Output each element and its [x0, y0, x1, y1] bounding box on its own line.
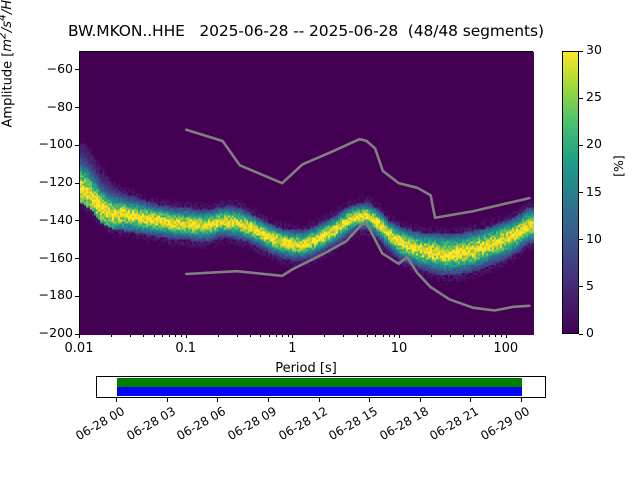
x-tick-minor	[394, 334, 395, 337]
x-tick-minor	[343, 334, 344, 337]
y-tick-label: −160	[0, 250, 73, 265]
y-tick-mark	[75, 69, 79, 70]
x-tick-minor	[431, 334, 432, 337]
y-axis-label: Amplitude [m2/s4/Hz] [dB]	[0, 0, 15, 192]
colorbar-tick-mark	[579, 239, 583, 240]
colorbar-label: [%]	[611, 136, 626, 196]
y-tick-label: −140	[0, 212, 73, 227]
colorbar	[562, 51, 579, 334]
x-tick-mark	[186, 334, 187, 338]
x-tick-minor	[237, 334, 238, 337]
x-tick-minor	[260, 334, 261, 337]
timeline-tick-mark	[319, 398, 320, 402]
timeline-tick-mark	[268, 398, 269, 402]
y-tick-mark	[75, 183, 79, 184]
x-axis-label: Period [s]	[79, 361, 533, 376]
x-tick-label: 0.01	[39, 341, 119, 356]
colorbar-tick-mark	[579, 334, 583, 335]
colorbar-tick-label: 30	[586, 42, 602, 57]
colorbar-tick-mark	[579, 51, 583, 52]
x-tick-label: 10	[359, 341, 439, 356]
noise-model-curves	[80, 52, 532, 333]
x-tick-minor	[357, 334, 358, 337]
timeline-tick-mark	[420, 398, 421, 402]
colorbar-tick-label: 20	[586, 136, 602, 151]
timeline-tick-mark	[521, 398, 522, 402]
timeline-tick-mark	[369, 398, 370, 402]
timeline-tick-mark	[470, 398, 471, 402]
x-tick-mark	[506, 334, 507, 338]
y-tick-mark	[75, 296, 79, 297]
colorbar-tick-label: 10	[586, 231, 602, 246]
x-tick-mark	[79, 334, 80, 338]
data-coverage-blue	[117, 387, 522, 396]
x-tick-minor	[143, 334, 144, 337]
x-tick-minor	[276, 334, 277, 337]
x-tick-label: 100	[466, 341, 546, 356]
x-tick-minor	[288, 334, 289, 337]
x-tick-minor	[367, 334, 368, 337]
x-tick-minor	[324, 334, 325, 337]
x-tick-mark	[399, 334, 400, 338]
x-tick-minor	[474, 334, 475, 337]
x-tick-label: 0.1	[146, 341, 226, 356]
y-tick-mark	[75, 220, 79, 221]
x-tick-minor	[375, 334, 376, 337]
x-tick-minor	[130, 334, 131, 337]
colorbar-tick-mark	[579, 145, 583, 146]
timeline-tick-mark	[116, 398, 117, 402]
x-tick-mark	[292, 334, 293, 338]
x-tick-minor	[495, 334, 496, 337]
data-coverage-timeline	[96, 376, 546, 398]
data-coverage-green	[117, 378, 522, 387]
x-tick-minor	[282, 334, 283, 337]
x-tick-minor	[154, 334, 155, 337]
colorbar-tick-label: 25	[586, 89, 602, 104]
x-tick-minor	[162, 334, 163, 337]
colorbar-tick-label: 5	[586, 278, 594, 293]
colorbar-tick-mark	[579, 286, 583, 287]
y-tick-label: −200	[0, 325, 73, 340]
x-tick-label: 1	[252, 341, 332, 356]
y-tick-label: −180	[0, 287, 73, 302]
y-tick-mark	[75, 145, 79, 146]
y-tick-mark	[75, 258, 79, 259]
x-tick-minor	[181, 334, 182, 337]
x-tick-minor	[389, 334, 390, 337]
x-tick-minor	[489, 334, 490, 337]
timeline-tick-mark	[167, 398, 168, 402]
x-tick-minor	[482, 334, 483, 337]
x-tick-minor	[269, 334, 270, 337]
colorbar-tick-label: 0	[586, 325, 594, 340]
x-tick-minor	[218, 334, 219, 337]
x-tick-minor	[175, 334, 176, 337]
ppsd-axes	[79, 51, 533, 334]
y-tick-mark	[75, 107, 79, 108]
x-tick-minor	[169, 334, 170, 337]
x-tick-minor	[450, 334, 451, 337]
x-tick-minor	[250, 334, 251, 337]
colorbar-tick-mark	[579, 192, 583, 193]
plot-title: BW.MKON..HHE 2025-06-28 -- 2025-06-28 (4…	[0, 22, 612, 40]
x-tick-minor	[501, 334, 502, 337]
x-tick-minor	[463, 334, 464, 337]
x-tick-minor	[111, 334, 112, 337]
ppsd-figure: BW.MKON..HHE 2025-06-28 -- 2025-06-28 (4…	[0, 0, 640, 480]
colorbar-tick-mark	[579, 98, 583, 99]
x-tick-minor	[383, 334, 384, 337]
colorbar-tick-label: 15	[586, 184, 602, 199]
timeline-tick-mark	[217, 398, 218, 402]
